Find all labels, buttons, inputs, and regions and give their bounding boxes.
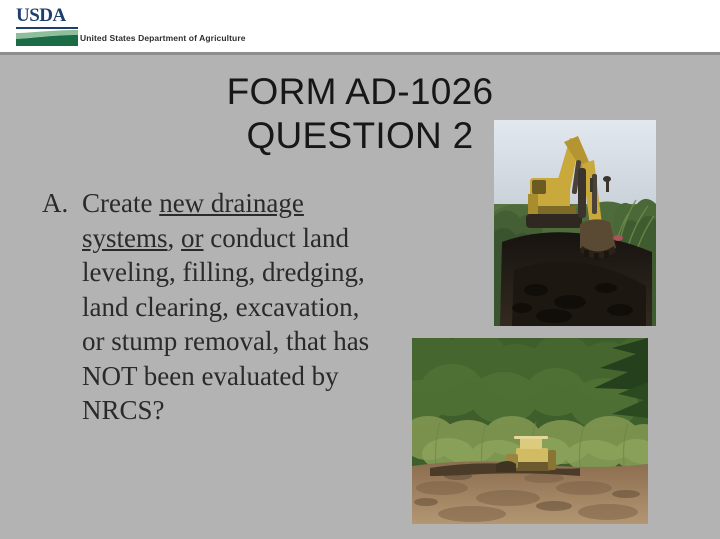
question-text: Create new drainage systems, or conduct … — [82, 186, 372, 428]
question-text-segment-0: Create — [82, 188, 159, 218]
question-text-segment-3: or — [181, 223, 204, 253]
page-title-line-1: FORM AD-1026 — [60, 70, 660, 114]
photo-bulldozer-land-clearing — [412, 338, 648, 524]
usda-wordmark-text: USDA — [16, 6, 78, 26]
usda-logo: USDA — [16, 6, 78, 46]
header-band — [0, 0, 720, 52]
usda-tagline: United States Department of Agriculture — [80, 33, 246, 43]
question-text-segment-2: , — [168, 223, 182, 253]
photo-excavator-digging-drainage-ditch — [494, 120, 656, 326]
slide-canvas: USDA United States Department of Agricul… — [0, 0, 720, 539]
usda-wordmark-underline — [16, 27, 78, 29]
usda-swoosh-icon — [16, 30, 78, 46]
header-divider-rule — [0, 52, 720, 55]
question-marker: A. — [42, 186, 68, 221]
